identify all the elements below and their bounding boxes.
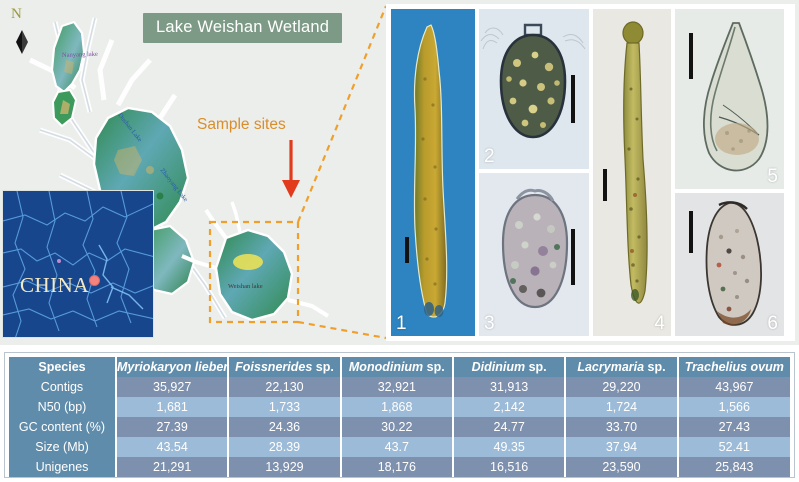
table-cell: 24.36	[228, 417, 340, 437]
figure-root: Nanyang lake Dushan Lake Zhaoyang Lake W…	[0, 0, 799, 482]
table-cell: 31,913	[453, 377, 565, 397]
scale-bar-2	[571, 75, 575, 123]
table-header-species-4: Didinium sp.	[453, 357, 565, 377]
panel-number-2: 2	[484, 146, 495, 168]
table-cell: 43.7	[341, 437, 453, 457]
table-row-label: Size (Mb)	[9, 437, 116, 457]
table-cell: 18,176	[341, 457, 453, 477]
map-title-banner: Lake Weishan Wetland	[143, 13, 342, 43]
micrograph-block: 1	[386, 4, 795, 341]
table-cell: 24.77	[453, 417, 565, 437]
panel-number-5: 5	[767, 166, 778, 188]
micrograph-1-image	[391, 9, 475, 336]
table-header-species-1: Myriokaryon lieberkuehnii	[116, 357, 228, 377]
study-site-marker-icon	[89, 275, 100, 286]
table-header-species-6: Trachelius ovum	[678, 357, 790, 377]
table-header-species: Species	[9, 357, 116, 377]
table-row-label: GC content (%)	[9, 417, 116, 437]
svg-text:Weishan lake: Weishan lake	[228, 283, 263, 290]
table-cell: 33.70	[565, 417, 677, 437]
table-row-label: Unigenes	[9, 457, 116, 477]
table-cell: 28.39	[228, 437, 340, 457]
micrograph-panel-3: 3	[479, 173, 589, 336]
table-cell: 27.43	[678, 417, 790, 437]
top-panel: Nanyang lake Dushan Lake Zhaoyang Lake W…	[0, 0, 799, 345]
micrograph-panel-5: 5	[675, 9, 784, 189]
table-cell: 43.54	[116, 437, 228, 457]
table-row: Size (Mb)43.5428.3943.749.3537.9452.41	[9, 437, 790, 457]
table-cell: 27.39	[116, 417, 228, 437]
map-area: Nanyang lake Dushan Lake Zhaoyang Lake W…	[0, 0, 385, 345]
table-header-species-5: Lacrymaria sp.	[565, 357, 677, 377]
table-cell: 43,967	[678, 377, 790, 397]
table-cell: 32,921	[341, 377, 453, 397]
table-header-row: SpeciesMyriokaryon lieberkuehniiFoissner…	[9, 357, 790, 377]
table-cell: 35,927	[116, 377, 228, 397]
table-cell: 1,724	[565, 397, 677, 417]
sample-sites-label: Sample sites	[197, 116, 286, 134]
svg-text:Nanyang lake: Nanyang lake	[62, 51, 98, 59]
table-cell: 37.94	[565, 437, 677, 457]
scale-bar-3	[571, 229, 575, 285]
table-cell: 16,516	[453, 457, 565, 477]
table-cell: 30.22	[341, 417, 453, 437]
scale-bar-1	[405, 237, 409, 263]
table-cell: 1,733	[228, 397, 340, 417]
table-cell: 49.35	[453, 437, 565, 457]
north-arrow-icon	[8, 8, 42, 56]
table-cell: 25,843	[678, 457, 790, 477]
table-cell: 29,220	[565, 377, 677, 397]
table-cell: 52.41	[678, 437, 790, 457]
statistics-table: SpeciesMyriokaryon lieberkuehniiFoissner…	[9, 357, 790, 477]
micrograph-panel-2: 2	[479, 9, 589, 169]
table-row: GC content (%)27.3924.3630.2224.7733.702…	[9, 417, 790, 437]
panel-number-3: 3	[484, 313, 495, 335]
panel-number-1: 1	[396, 313, 407, 335]
statistics-table-container: SpeciesMyriokaryon lieberkuehniiFoissner…	[4, 352, 795, 478]
table-row-label: N50 (bp)	[9, 397, 116, 417]
sample-sites-arrow-icon	[278, 140, 304, 202]
map-title-text: Lake Weishan Wetland	[156, 18, 329, 36]
china-inset-label: CHINA	[20, 273, 89, 298]
table-cell: 1,566	[678, 397, 790, 417]
scale-bar-4	[603, 169, 607, 201]
table-cell: 2,142	[453, 397, 565, 417]
table-row: Contigs35,92722,13032,92131,91329,22043,…	[9, 377, 790, 397]
table-cell: 23,590	[565, 457, 677, 477]
table-cell: 1,681	[116, 397, 228, 417]
micrograph-panel-1: 1	[391, 9, 475, 336]
micrograph-panel-6: 6	[675, 193, 784, 336]
panel-number-6: 6	[767, 313, 778, 335]
table-row-label: Contigs	[9, 377, 116, 397]
table-row: Unigenes21,29113,92918,17616,51623,59025…	[9, 457, 790, 477]
china-inset-map: CHINA	[2, 190, 154, 338]
table-header-species-2: Foissnerides sp.	[228, 357, 340, 377]
table-row: N50 (bp)1,6811,7331,8682,1421,7241,566	[9, 397, 790, 417]
panel-number-4: 4	[654, 313, 665, 335]
table-cell: 1,868	[341, 397, 453, 417]
table-cell: 21,291	[116, 457, 228, 477]
table-cell: 22,130	[228, 377, 340, 397]
scale-bar-5	[689, 33, 693, 79]
table-header-species-3: Monodinium sp.	[341, 357, 453, 377]
scale-bar-6	[689, 211, 693, 253]
table-cell: 13,929	[228, 457, 340, 477]
micrograph-panel-4: 4	[593, 9, 671, 336]
